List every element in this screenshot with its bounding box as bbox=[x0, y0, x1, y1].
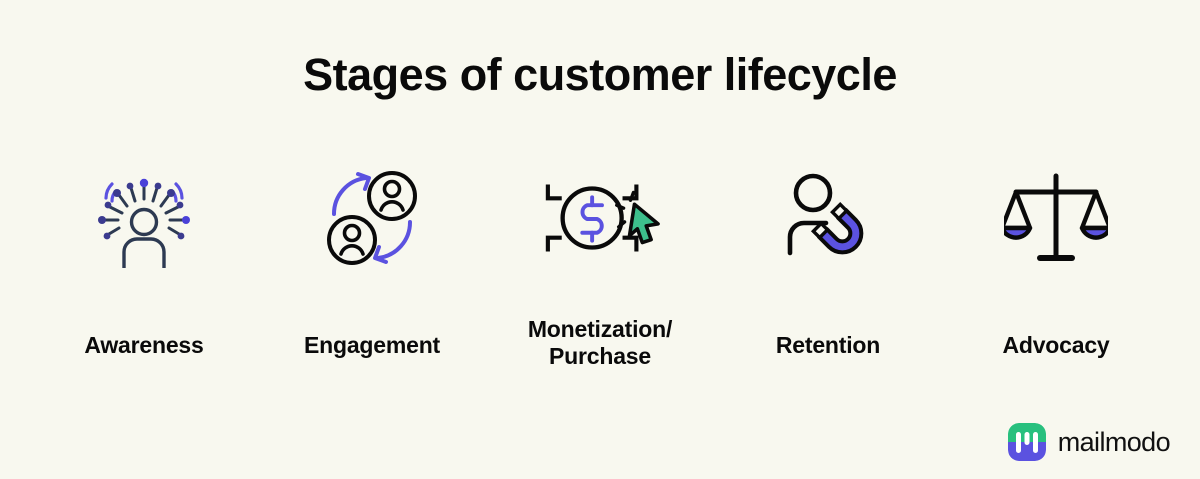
person-with-magnet-icon bbox=[768, 165, 888, 270]
stage-label-monetization-purchase: Monetization/ Purchase bbox=[528, 316, 672, 370]
lifecycle-stages-row: Awareness bbox=[30, 165, 1170, 370]
balance-scales-icon bbox=[996, 165, 1116, 270]
two-users-exchange-arrows-icon bbox=[312, 165, 432, 270]
stage-engagement: Engagement bbox=[258, 165, 486, 359]
stage-retention: Retention bbox=[714, 165, 942, 359]
stage-label-awareness: Awareness bbox=[84, 332, 203, 359]
page-title: Stages of customer lifecycle bbox=[0, 50, 1200, 100]
stage-label-retention: Retention bbox=[776, 332, 880, 359]
stage-label-advocacy: Advocacy bbox=[1002, 332, 1109, 359]
mailmodo-logo-text: mailmodo bbox=[1058, 427, 1170, 458]
stage-awareness: Awareness bbox=[30, 165, 258, 359]
stage-advocacy: Advocacy bbox=[942, 165, 1170, 359]
stage-monetization-purchase: Monetization/ Purchase bbox=[486, 165, 714, 370]
mailmodo-logo: mailmodo bbox=[1008, 423, 1170, 461]
stage-label-engagement: Engagement bbox=[304, 332, 440, 359]
person-with-radiating-signals-icon bbox=[84, 165, 204, 270]
dollar-circle-with-cursor-icon bbox=[540, 165, 660, 270]
mailmodo-logo-mark-icon bbox=[1008, 423, 1046, 461]
infographic-canvas: Stages of customer lifecycle bbox=[0, 0, 1200, 479]
